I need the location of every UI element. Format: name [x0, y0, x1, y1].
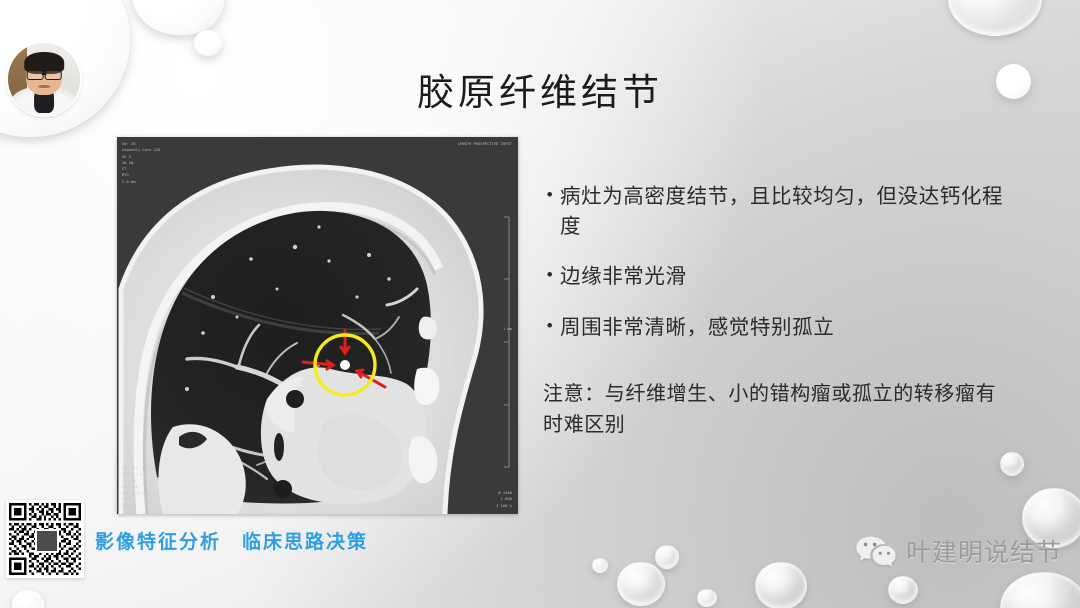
bullet-marker: • — [540, 182, 560, 241]
bubble-decoration — [655, 545, 679, 569]
wechat-icon — [855, 535, 897, 567]
ct-overlay-scale: 1 mm — [503, 326, 512, 332]
wechat-brand: 叶建明说结节 — [855, 533, 1062, 569]
ct-overlay-top-right: LENGTH PROSPECTIVE CHEST — [458, 141, 512, 147]
bubble-decoration — [697, 589, 717, 607]
bullet-text: 病灶为高密度结节，且比较均匀，但没达钙化程度 — [560, 182, 1010, 241]
bullet-text: 周围非常清晰，感觉特别孤立 — [560, 313, 1010, 343]
bubble-decoration — [592, 558, 608, 573]
bubble-decoration — [1000, 452, 1024, 476]
ct-scan-image: Se: 28 Legendly Core 128 Se 5 Im 28 CT M… — [117, 137, 518, 514]
content-column: • 病灶为高密度结节，且比较均匀，但没达钙化程度 • 边缘非常光滑 • 周围非常… — [540, 182, 1010, 441]
bubble-decoration — [888, 576, 918, 604]
bubble-decoration — [948, 0, 1042, 36]
bullet-text: 边缘非常光滑 — [560, 262, 1010, 292]
ct-overlay-top-left: Se: 28 Legendly Core 128 Se 5 Im 28 CT M… — [122, 141, 160, 185]
note-text: 注意：与纤维增生、小的错构瘤或孤立的转移瘤有时难区别 — [540, 379, 1010, 441]
qr-code[interactable] — [6, 500, 84, 578]
ct-scan-graphic — [117, 137, 518, 514]
page-title: 胶原纤维结节 — [0, 62, 1080, 116]
bubble-decoration — [755, 562, 807, 608]
bullet-item: • 周围非常清晰，感觉特别孤立 — [540, 313, 1010, 343]
bullet-item: • 病灶为高密度结节，且比较均匀，但没达钙化程度 — [540, 182, 1010, 241]
bubble-decoration — [194, 30, 222, 56]
footer-caption: 影像特征分析 临床思路决策 — [95, 527, 368, 554]
qr-center-logo — [35, 529, 59, 553]
bullet-item: • 边缘非常光滑 — [540, 262, 1010, 292]
bubble-decoration — [1000, 572, 1080, 608]
bullet-marker: • — [540, 313, 560, 343]
bullet-marker: • — [540, 262, 560, 292]
slide-canvas: 胶原纤维结节 — [0, 0, 1080, 608]
ct-overlay-bottom-left: KVp 127 mA 225 IM 25 / s FL p80 kVs 120 … — [122, 465, 156, 509]
bubble-decoration — [132, 0, 224, 35]
bubble-decoration — [12, 590, 44, 608]
wechat-brand-name: 叶建明说结节 — [906, 533, 1062, 569]
bubble-decoration — [617, 562, 665, 606]
ct-overlay-bottom-right: W 1500 L 600 Z 100 % — [496, 490, 512, 509]
